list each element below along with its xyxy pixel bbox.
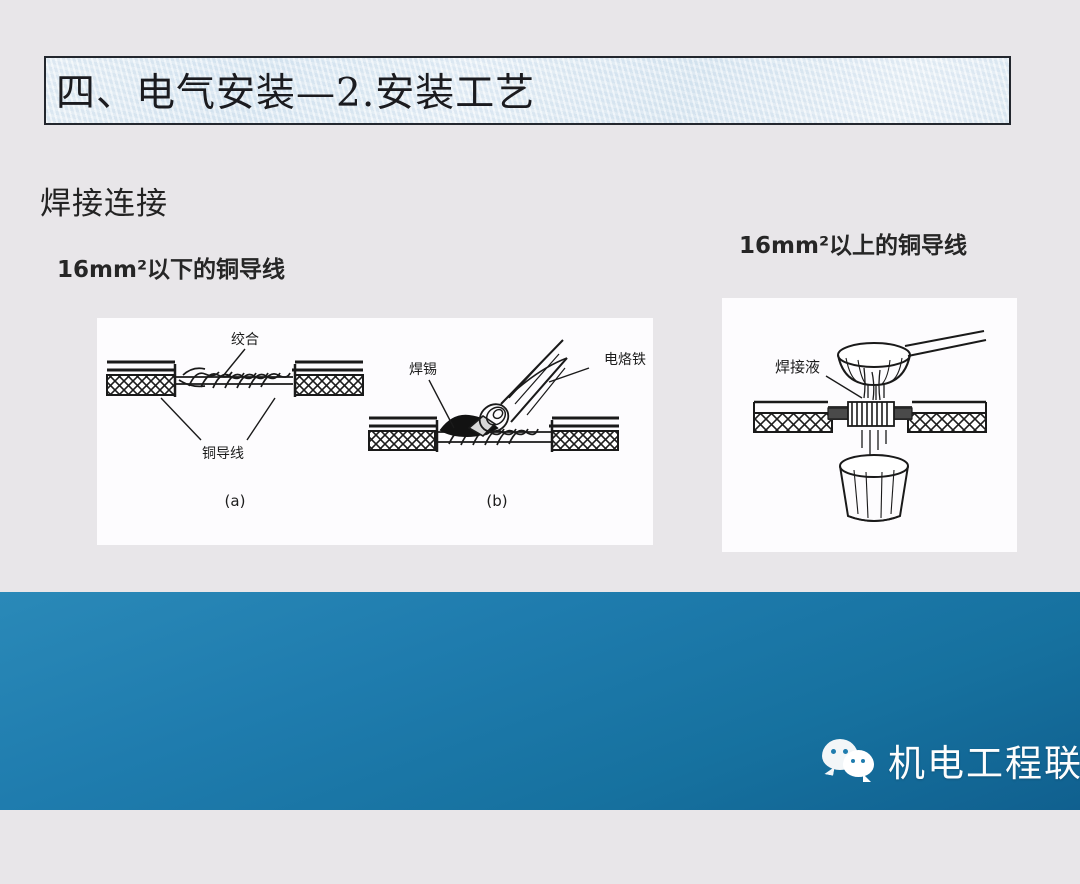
annotation-solder-liquid: 焊接液: [775, 358, 820, 376]
footer-brand: 机电工程联盟: [822, 733, 1080, 787]
right-figure-caption: 16mm²以上的铜导线: [739, 226, 967, 260]
caption-b: (b): [486, 492, 507, 510]
twisted-joint-a: [175, 368, 293, 388]
annotation-twist-a: 绞合: [231, 331, 259, 348]
section-heading: 焊接连接: [40, 178, 168, 223]
left-figure-panel: 绞合 铜导线 (a): [97, 318, 653, 545]
caption-a: (a): [225, 492, 246, 510]
wound-joint: [848, 402, 894, 426]
wire-right-a: [292, 362, 363, 397]
diagram-a: [107, 349, 363, 440]
pot-lower: [840, 455, 908, 521]
annotation-copper-wire-a: 铜导线: [202, 446, 244, 462]
leader-line-liquid: [826, 376, 862, 398]
left-figure-caption: 16mm²以下的铜导线: [57, 250, 285, 284]
leader-lines-a: [161, 349, 275, 440]
page-title: 四、电气安装—2.安装工艺: [56, 61, 535, 117]
title-banner: 四、电气安装—2.安装工艺: [44, 56, 1011, 125]
annotation-solder-b: 焊锡: [409, 362, 437, 378]
ladle-upper: [838, 331, 986, 385]
brand-name: 机电工程联盟: [888, 733, 1080, 787]
wire-left-b: [369, 418, 437, 452]
decorative-streak-4: [0, 836, 22, 884]
wechat-icon: [822, 739, 876, 781]
decorative-streak-2: [0, 364, 98, 595]
wire-right-b: [549, 418, 619, 452]
diagram-b: [369, 340, 619, 452]
slide-canvas: 四、电气安装—2.安装工艺 焊接连接 16mm²以下的铜导线 16mm²以上的铜…: [0, 0, 1080, 810]
right-figure-panel: 焊接液: [722, 298, 1017, 552]
annotation-iron-b: 电烙铁: [604, 352, 646, 368]
wire-left-a: [107, 362, 175, 397]
